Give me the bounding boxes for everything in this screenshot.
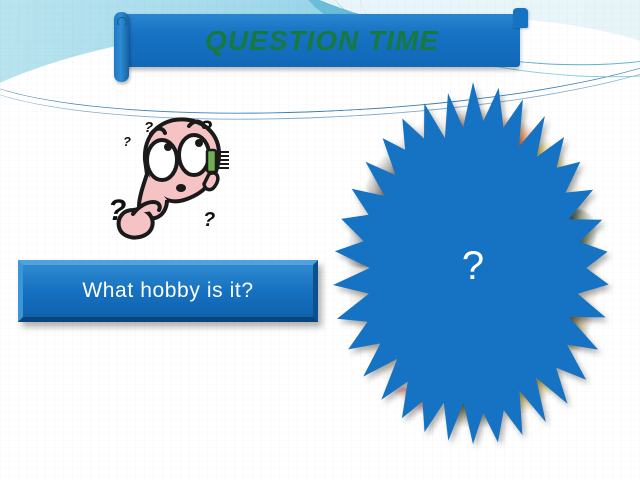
left-pupil xyxy=(164,143,172,151)
question-mark-glyph: ? xyxy=(123,134,131,149)
question-text: What hobby is it? xyxy=(76,279,259,304)
left-eye xyxy=(147,140,177,180)
right-pupil xyxy=(195,139,203,147)
question-mark-large: ? xyxy=(330,246,616,286)
banner-scroll-roll-icon xyxy=(114,12,129,82)
slide-canvas: QUESTION TIME ? ? ? ? ? xyxy=(0,0,640,480)
starburst-answer-cover[interactable]: ? xyxy=(330,82,616,454)
question-text-box: What hobby is it? xyxy=(18,260,318,322)
page-title: QUESTION TIME xyxy=(205,25,439,57)
banner-corner-tab xyxy=(513,8,528,28)
question-mark-glyph: ? xyxy=(203,209,215,231)
thinking-man-illustration: ? ? ? ? ? xyxy=(103,102,253,242)
nose xyxy=(176,184,186,192)
right-eye xyxy=(179,135,209,175)
title-banner: QUESTION TIME xyxy=(124,14,520,67)
